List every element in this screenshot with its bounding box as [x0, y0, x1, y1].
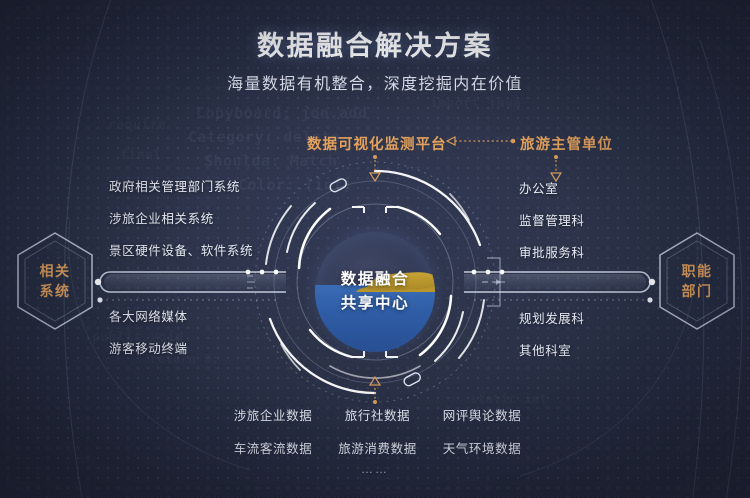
platform-authority-arrow: [447, 137, 515, 145]
right-departments-list-bottom: 规划发展科 其他科室: [519, 308, 585, 372]
data-cell: 天气环境数据: [434, 438, 530, 457]
code-watermark: Copyboard; jon.add: [196, 104, 368, 122]
data-ellipsis: ……: [0, 462, 750, 476]
page-subtitle: 海量数据有机整合，深度挖掘内在价值: [0, 70, 750, 94]
hexagon-right-label: 职能 部门: [654, 229, 740, 333]
list-item: 游客移动终端: [109, 338, 188, 357]
left-source-systems-list: 政府相关管理部门系统 涉旅企业相关系统 景区硬件设备、软件系统: [109, 176, 253, 272]
code-watermark: final: [120, 148, 162, 163]
hud-right-bracket: [482, 258, 505, 306]
platform-drop-marker: [370, 155, 380, 181]
code-watermark: Shoulda: Match: [204, 152, 337, 170]
list-item: 其他科室: [519, 340, 585, 359]
data-fusion-core-sphere[interactable]: 数据融合 共享中心: [315, 232, 435, 352]
list-item: 办公室: [519, 178, 585, 197]
list-item: 各大网络媒体: [109, 306, 188, 325]
hexagon-related-systems[interactable]: 相关 系统: [12, 229, 98, 333]
hexagon-left-label: 相关 系统: [12, 229, 98, 333]
label-tourism-authority[interactable]: 旅游主管单位: [520, 133, 613, 154]
data-cell: 车流客流数据: [225, 438, 321, 457]
data-cell: 旅游消费数据: [330, 438, 426, 457]
bottom-data-up-marker: [370, 377, 380, 404]
data-row: 涉旅企业数据 旅行社数据 网评舆论数据: [225, 405, 530, 424]
code-watermark: static int: [470, 392, 547, 406]
code-watermark: require: [108, 118, 166, 133]
left-connector-pipe: [95, 270, 286, 303]
data-cell: 网评舆论数据: [434, 405, 530, 424]
infographic-canvas: Copyboard; jon.add Category: delete Shou…: [0, 0, 750, 498]
hud-left-ticks: [247, 276, 255, 288]
hexagon-right-line2: 部门: [682, 281, 713, 301]
core-line1: 数据融合: [341, 268, 409, 292]
list-item: 审批服务科: [519, 242, 585, 261]
hexagon-left-line1: 相关: [40, 261, 71, 281]
list-item: 涉旅企业相关系统: [109, 208, 253, 227]
core-line2: 共享中心: [341, 292, 409, 316]
data-cell: 旅行社数据: [330, 405, 426, 424]
data-row: 车流客流数据 旅游消费数据 天气环境数据: [225, 438, 530, 457]
hexagon-left-line2: 系统: [40, 281, 71, 301]
core-label: 数据融合 共享中心: [315, 232, 435, 352]
page-title: 数据融合解决方案: [0, 24, 750, 63]
list-item: 政府相关管理部门系统: [109, 176, 253, 195]
list-item: 景区硬件设备、软件系统: [109, 240, 253, 259]
right-connector-pipe: [464, 270, 655, 303]
code-watermark: import java: [430, 96, 522, 111]
data-cell: 涉旅企业数据: [225, 405, 321, 424]
list-item: 监督管理科: [519, 210, 585, 229]
right-departments-list-top: 办公室 监督管理科 审批服务科: [519, 178, 585, 274]
code-watermark: Color: (int): [238, 176, 352, 194]
left-media-sources-list: 各大网络媒体 游客移动终端: [109, 306, 188, 370]
label-visualization-platform[interactable]: 数据可视化监测平台: [307, 133, 447, 154]
hexagon-right-line1: 职能: [682, 261, 713, 281]
hexagon-functional-departments[interactable]: 职能 部门: [654, 229, 740, 333]
list-item: 规划发展科: [519, 308, 585, 327]
